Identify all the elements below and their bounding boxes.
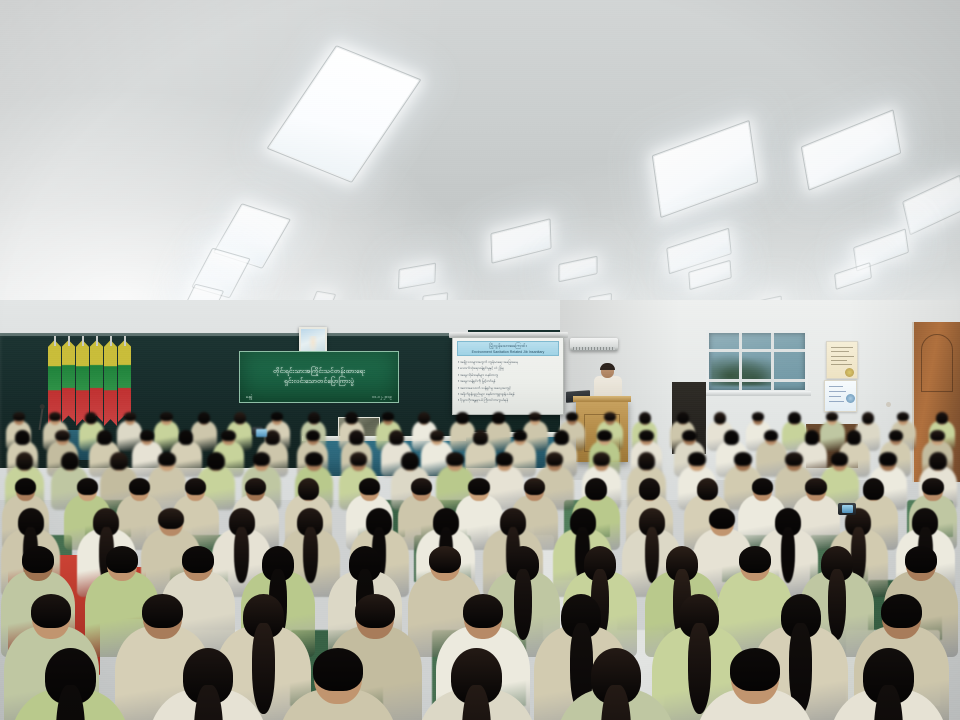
audience-hair [345, 412, 357, 424]
audience-hair [639, 478, 660, 500]
audience-hair [785, 452, 803, 466]
flag-pole [110, 336, 112, 346]
audience-hair [350, 452, 368, 466]
audience-hair [85, 412, 97, 424]
audience [0, 405, 960, 720]
audience-hair [593, 452, 611, 466]
wall-air-conditioner [570, 338, 618, 351]
audience-hair [160, 412, 172, 421]
audience-hair [709, 508, 735, 529]
slide-bullet: ▪ ပိုးမွားကိုးအန္တရာယ် ကြိုတင်ကာကွယ်ရန် [458, 397, 558, 403]
audience-hair [198, 412, 210, 424]
window [706, 330, 808, 393]
flag-pole [124, 336, 126, 346]
audience-hair [688, 452, 706, 466]
audience-hair [308, 412, 320, 424]
audience-hair [862, 412, 874, 424]
stage-banner: တိုင်းရင်းသားအကြိုင်းသင်တန်းထားရေး ရှင်း… [239, 351, 399, 403]
audience-hair [207, 452, 225, 470]
audience-hair [16, 452, 34, 470]
photo-scene: တိုင်းရင်းသားအကြိုင်းသင်တန်းထားရေး ရှင်း… [0, 0, 960, 720]
attendee-phone [252, 427, 263, 435]
audience-hair [97, 430, 112, 445]
audience-hair [788, 412, 800, 424]
ceiling-light [400, 265, 434, 287]
audience-hair [124, 412, 136, 421]
audience-hair [221, 430, 236, 441]
banner-right-note: ၁၁-၁၂-၂၀၁၉ [372, 394, 392, 400]
audience-hair [179, 430, 194, 445]
audience-hair [730, 648, 781, 691]
audience-hair [411, 478, 432, 495]
audience-hair [61, 452, 79, 470]
audience-hair [879, 452, 897, 466]
audience-hair [922, 478, 943, 495]
audience-hair [158, 452, 176, 466]
audience-member [278, 649, 398, 720]
banner-line-1: တိုင်းရင်းသားအကြိုင်းသင်တန်းထားရေး [273, 367, 365, 377]
audience-hair [15, 478, 36, 495]
audience-hair [185, 478, 206, 495]
audience-hair [524, 478, 545, 495]
audience-hair [140, 430, 155, 441]
audience-hair [739, 546, 771, 573]
audience-member [695, 649, 815, 720]
banner-left-note: နေ့စွဲ [246, 394, 253, 400]
audience-hair [604, 412, 616, 421]
audience-member [417, 649, 537, 720]
audience-hair [313, 648, 364, 691]
audience-hair [110, 452, 128, 470]
audience-hair [13, 412, 25, 421]
audience-hair [496, 452, 514, 466]
audience-hair [468, 478, 489, 495]
audience-hair [805, 430, 820, 445]
audience-hair [31, 594, 71, 628]
audience-hair [77, 478, 98, 495]
audience-hair [639, 412, 651, 424]
audience-hair [382, 412, 394, 421]
slide-bullet-list: ▪ အမျိုးသားများအတွက် ကျန်းမာရေး အခြေအနေ▪… [453, 356, 563, 404]
audience-hair [129, 478, 150, 495]
audience-hair [401, 452, 419, 470]
audience-hair [847, 430, 862, 445]
audience-hair [22, 546, 54, 573]
audience-hair [271, 412, 283, 421]
audience-hair [389, 430, 404, 445]
audience-hair [930, 430, 945, 441]
audience-hair [446, 452, 464, 466]
audience-hair [554, 430, 569, 445]
audience-hair [513, 430, 528, 441]
audience-hair [355, 594, 395, 628]
audience-hair [430, 430, 445, 441]
audience-hair [349, 430, 364, 445]
slide-title: မြို့လွန်သောအကြောင်း [489, 343, 526, 350]
audience-member [10, 649, 130, 720]
audience-hair [473, 430, 488, 445]
audience-hair [826, 412, 838, 421]
audience-hair [359, 478, 380, 495]
audience-hair [429, 546, 461, 573]
audience-hair [245, 478, 266, 495]
flag-pole [96, 336, 98, 346]
audience-hair [905, 546, 937, 573]
flag-pole [68, 336, 70, 346]
audience-hair [253, 452, 271, 466]
audience-hair [158, 508, 184, 529]
audience-hair [714, 412, 726, 424]
audience-member [829, 649, 949, 720]
flag-pole [54, 336, 56, 346]
audience-hair [752, 478, 773, 495]
audience-hair [418, 412, 430, 424]
audience-hair [306, 430, 321, 441]
audience-hair [889, 430, 904, 441]
audience-hair [463, 594, 503, 628]
poster-upper [826, 341, 858, 379]
audience-hair [456, 412, 468, 424]
audience-hair [677, 412, 689, 424]
audience-hair [831, 452, 849, 466]
audience-hair [566, 412, 578, 421]
audience-hair [638, 452, 656, 470]
banner-line-2: ရှင်းလင်းသောတင်ပြောကြားပွဲ [284, 377, 354, 387]
audience-hair [805, 478, 826, 495]
window-sill [703, 391, 811, 396]
audience-hair [724, 430, 739, 445]
audience-hair [55, 430, 70, 441]
audience-hair [697, 478, 718, 500]
audience-hair [929, 452, 947, 470]
audience-hair [546, 452, 564, 466]
audience-hair [682, 430, 697, 441]
audience-hair [265, 430, 280, 445]
audience-hair [936, 412, 948, 424]
audience-hair [585, 478, 606, 500]
audience-hair [764, 430, 779, 441]
audience-hair [182, 546, 214, 573]
slide-title-bar: မြို့လွန်သောအကြောင်း Environment Sanitat… [457, 341, 559, 356]
audience-hair [863, 478, 884, 500]
audience-hair [492, 412, 504, 424]
audience-hair [15, 430, 30, 445]
audience-hair [752, 412, 764, 421]
audience-hair [106, 546, 138, 573]
audience-hair [234, 412, 246, 424]
audience-hair [881, 594, 921, 628]
audience-member [556, 649, 676, 720]
audience-member [148, 649, 268, 720]
audience-hair [49, 412, 61, 421]
audience-hair [897, 412, 909, 421]
audience-hair [305, 452, 323, 466]
slide-subtitle: Environment Sanitation Related Jib Insan… [472, 350, 545, 354]
audience-hair [298, 478, 319, 500]
audience-hair [734, 452, 752, 466]
attendee-camera [838, 503, 856, 515]
projection-screen: မြို့လွန်သောအကြောင်း Environment Sanitat… [452, 337, 564, 415]
flag-pole [82, 336, 84, 346]
audience-hair [142, 594, 182, 628]
audience-hair [529, 412, 541, 421]
audience-hair [639, 430, 654, 441]
audience-hair [597, 430, 612, 441]
